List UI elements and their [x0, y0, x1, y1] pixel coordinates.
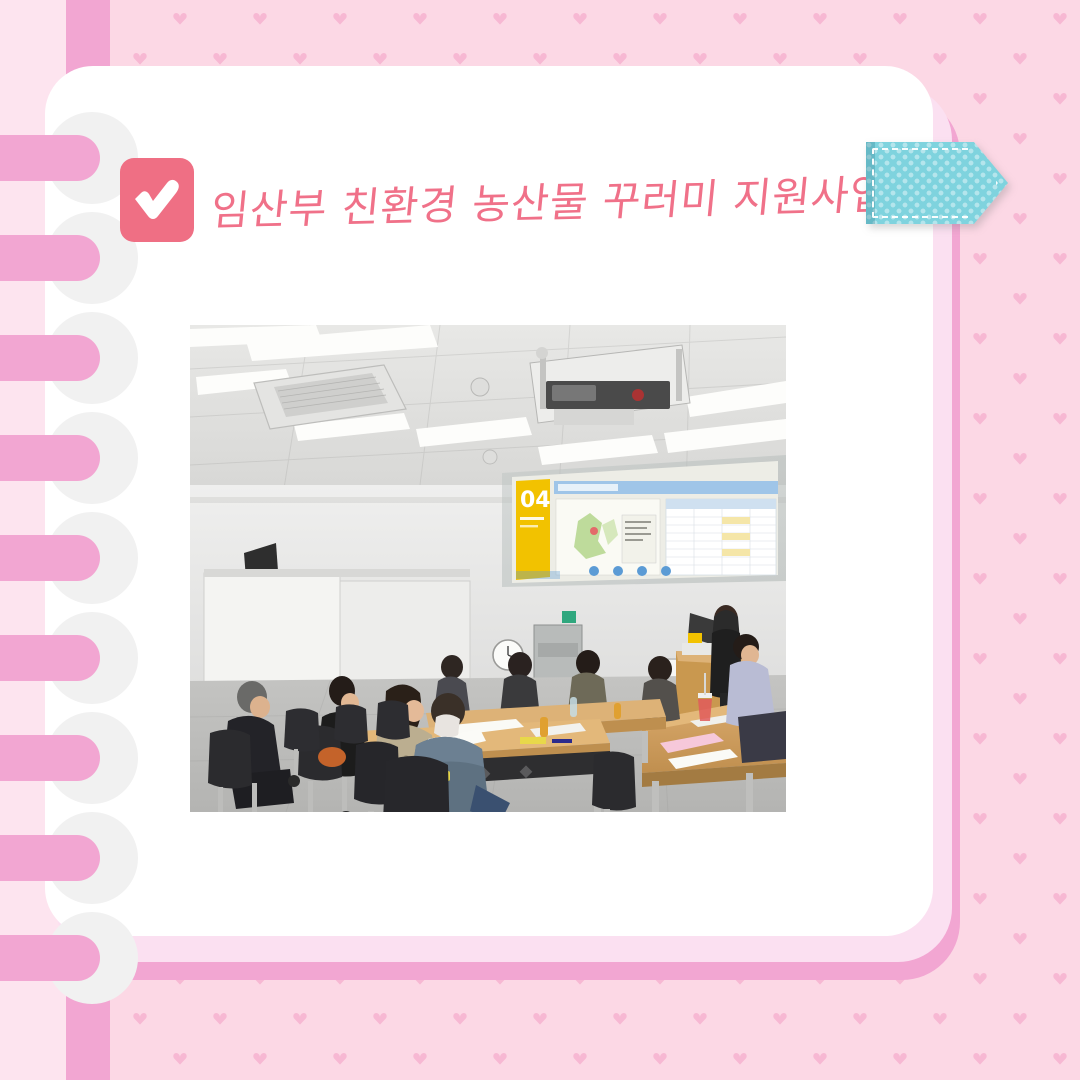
spiral-ring	[0, 235, 100, 281]
svg-text:04: 04	[520, 488, 551, 513]
spiral-ring	[0, 935, 100, 981]
seminar-room-photo: 04	[190, 325, 786, 812]
spiral-ring	[0, 635, 100, 681]
page-title: 임산부 친환경 농산물 꾸러미 지원사업	[207, 152, 877, 254]
spiral-ring	[0, 735, 100, 781]
spiral-ring	[0, 135, 100, 181]
spiral-ring	[0, 535, 100, 581]
spiral-ring	[0, 435, 100, 481]
spiral-ring	[0, 335, 100, 381]
checkbox-checked-icon	[120, 158, 194, 242]
arrow-right-banner-icon[interactable]	[866, 142, 1008, 224]
spiral-ring	[0, 835, 100, 881]
header-row: 임산부 친환경 농산물 꾸러미 지원사업	[120, 158, 880, 254]
